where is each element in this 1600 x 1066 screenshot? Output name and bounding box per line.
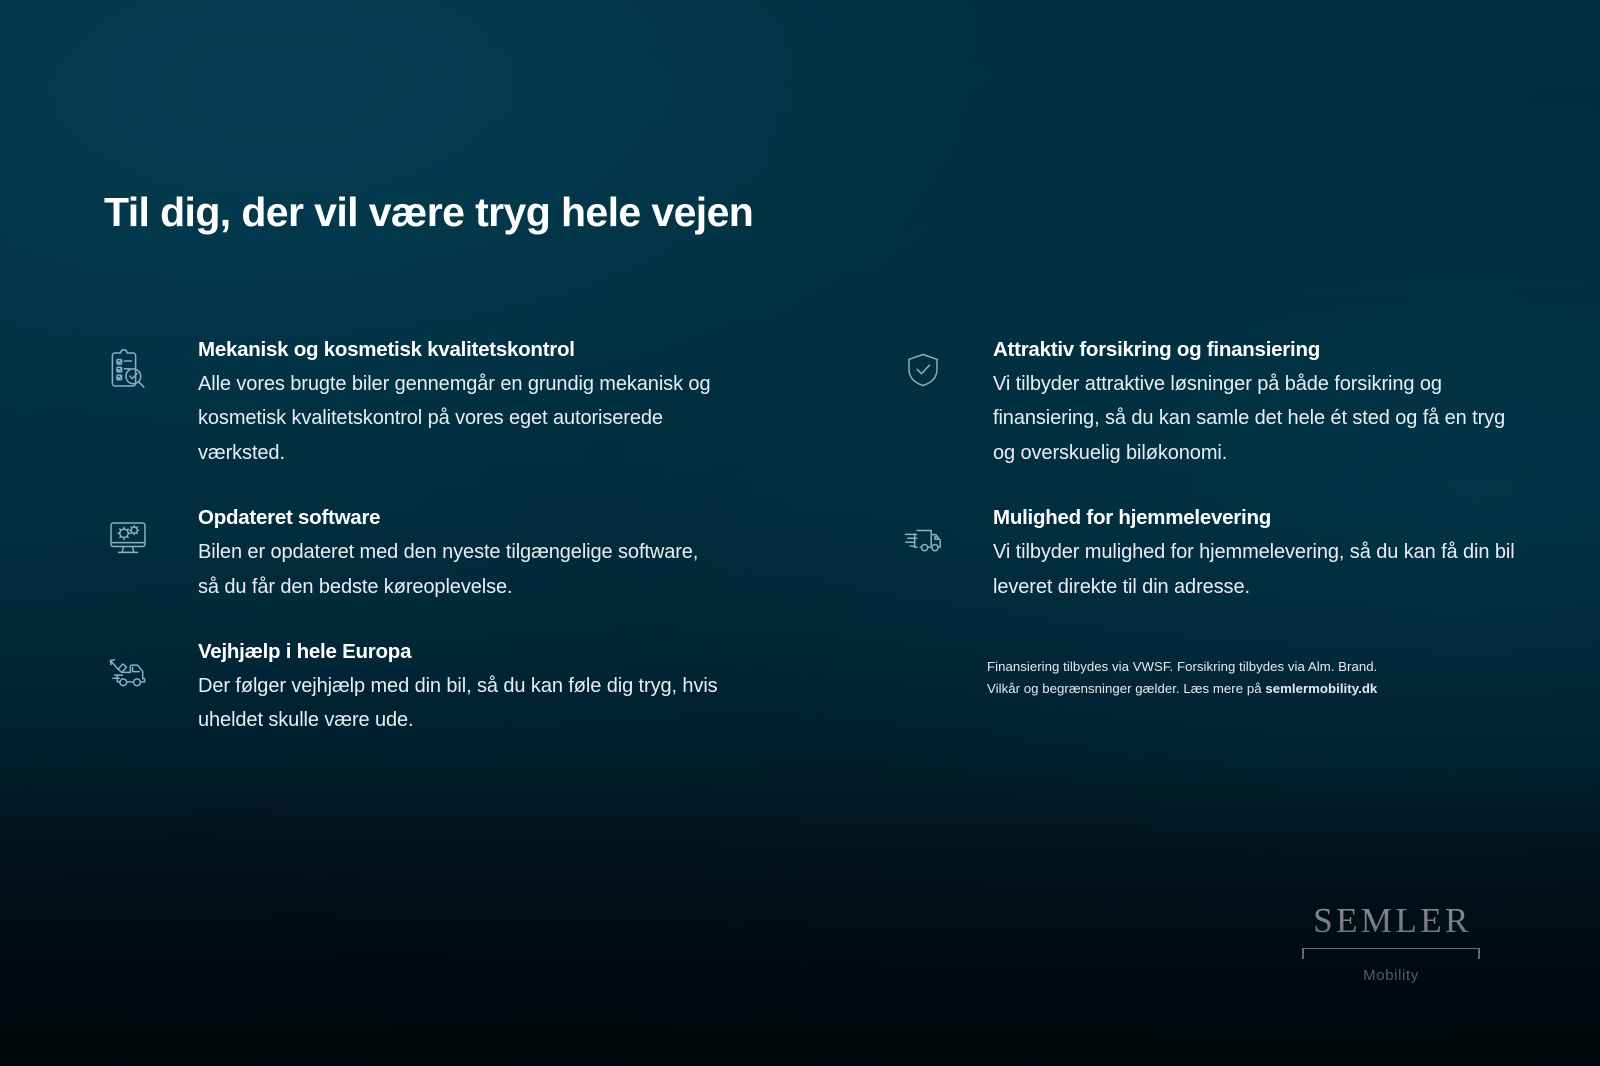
feature-body: Bilen er opdateret med den nyeste tilgæn… — [198, 535, 721, 604]
disclaimer-text: Finansiering tilbydes via VWSF. Forsikri… — [987, 656, 1457, 700]
features-column-left: Mekanisk og kosmetisk kvalitetskontrol A… — [96, 338, 721, 738]
feature-body: Der følger vejhjælp med din bil, så du k… — [198, 669, 721, 738]
page-title: Til dig, der vil være tryg hele vejen — [104, 190, 753, 236]
disclaimer-website-link[interactable]: semlermobility.dk — [1265, 681, 1377, 696]
promo-banner: Til dig, der vil være tryg hele vejen — [0, 0, 1600, 1066]
feature-home-delivery: Mulighed for hjemmelevering Vi tilbyder … — [891, 506, 1516, 604]
features-columns: Mekanisk og kosmetisk kvalitetskontrol A… — [96, 338, 1516, 738]
feature-body: Vi tilbyder attraktive løsninger på både… — [993, 367, 1516, 470]
semler-mobility-logo: SEMLER Mobility — [1300, 903, 1482, 984]
feature-text: Mulighed for hjemmelevering Vi tilbyder … — [993, 506, 1516, 604]
monitor-gears-icon — [96, 506, 198, 564]
feature-text: Attraktiv forsikring og finansiering Vi … — [993, 338, 1516, 470]
feature-title: Attraktiv forsikring og finansiering — [993, 338, 1516, 362]
features-column-right: Attraktiv forsikring og finansiering Vi … — [891, 338, 1516, 738]
tow-truck-icon — [96, 640, 198, 698]
feature-title: Opdateret software — [198, 506, 721, 530]
feature-title: Mulighed for hjemmelevering — [993, 506, 1516, 530]
feature-body: Alle vores brugte biler gennemgår en gru… — [198, 367, 721, 470]
feature-text: Opdateret software Bilen er opdateret me… — [198, 506, 721, 604]
delivery-truck-icon — [891, 506, 993, 564]
feature-body: Vi tilbyder mulighed for hjemmelevering,… — [993, 535, 1516, 604]
disclaimer-line-1: Finansiering tilbydes via VWSF. Forsikri… — [987, 659, 1377, 674]
disclaimer-line-2-prefix: Vilkår og begrænsninger gælder. Læs mere… — [987, 681, 1265, 696]
feature-text: Vejhjælp i hele Europa Der følger vejhjæ… — [198, 640, 721, 738]
logo-wordmark: SEMLER — [1300, 903, 1482, 938]
feature-insurance-financing: Attraktiv forsikring og finansiering Vi … — [891, 338, 1516, 470]
feature-updated-software: Opdateret software Bilen er opdateret me… — [96, 506, 721, 604]
feature-roadside-assistance: Vejhjælp i hele Europa Der følger vejhjæ… — [96, 640, 721, 738]
shield-check-icon — [891, 338, 993, 396]
feature-title: Vejhjælp i hele Europa — [198, 640, 721, 664]
logo-subtitle: Mobility — [1300, 967, 1482, 984]
logo-divider-rule — [1302, 948, 1480, 961]
feature-title: Mekanisk og kosmetisk kvalitetskontrol — [198, 338, 721, 362]
feature-quality-control: Mekanisk og kosmetisk kvalitetskontrol A… — [96, 338, 721, 470]
feature-text: Mekanisk og kosmetisk kvalitetskontrol A… — [198, 338, 721, 470]
clipboard-check-magnifier-icon — [96, 338, 198, 396]
